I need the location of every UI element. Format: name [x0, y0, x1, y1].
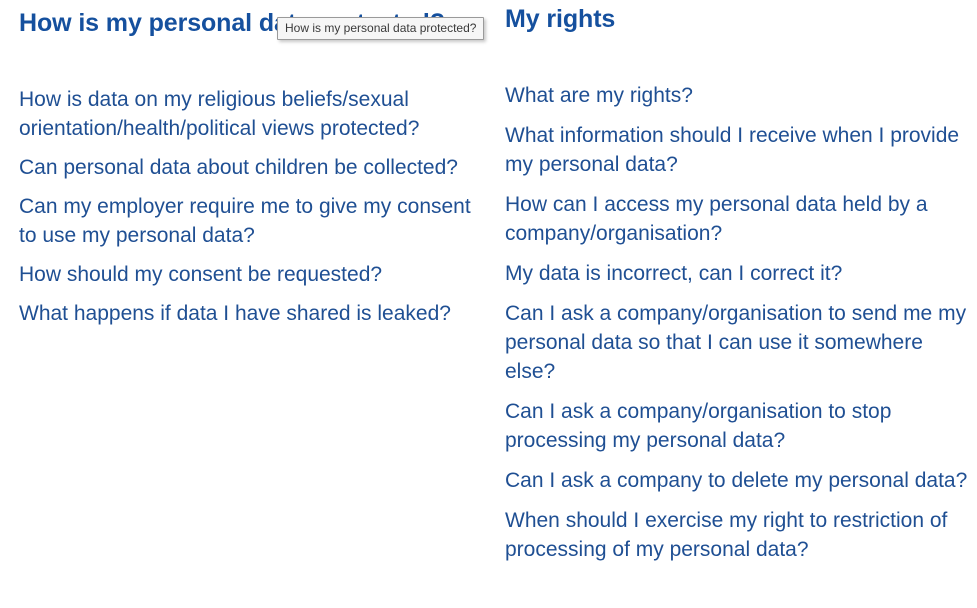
- faq-link-data-portability[interactable]: Can I ask a company/organisation to send…: [505, 299, 973, 386]
- page-title-right: My rights: [505, 4, 973, 35]
- list-item: Can I ask a company/organisation to stop…: [505, 397, 973, 455]
- list-item: What are my rights?: [505, 81, 973, 110]
- list-item: Can I ask a company to delete my persona…: [505, 466, 973, 495]
- faq-link-correct-my-data[interactable]: My data is incorrect, can I correct it?: [505, 259, 973, 288]
- faq-link-delete-my-data[interactable]: Can I ask a company to delete my persona…: [505, 466, 973, 495]
- faq-columns: How is my personal data protected? How i…: [0, 0, 977, 564]
- list-item: Can I ask a company/organisation to send…: [505, 299, 973, 386]
- faq-link-what-are-my-rights[interactable]: What are my rights?: [505, 81, 973, 110]
- faq-page: How is my personal data protected? How i…: [0, 0, 977, 608]
- list-item: What information should I receive when I…: [505, 121, 973, 179]
- faq-link-stop-processing[interactable]: Can I ask a company/organisation to stop…: [505, 397, 973, 455]
- faq-column-my-rights: My rights What are my rights? What infor…: [0, 0, 977, 564]
- faq-link-restriction-of-processing[interactable]: When should I exercise my right to restr…: [505, 506, 973, 564]
- list-item: When should I exercise my right to restr…: [505, 506, 973, 564]
- list-item: My data is incorrect, can I correct it?: [505, 259, 973, 288]
- faq-link-information-received[interactable]: What information should I receive when I…: [505, 121, 973, 179]
- link-tooltip: How is my personal data protected?: [277, 17, 484, 40]
- faq-link-list-right: What are my rights? What information sho…: [505, 81, 973, 564]
- list-item: How can I access my personal data held b…: [505, 190, 973, 248]
- faq-link-access-my-data[interactable]: How can I access my personal data held b…: [505, 190, 973, 248]
